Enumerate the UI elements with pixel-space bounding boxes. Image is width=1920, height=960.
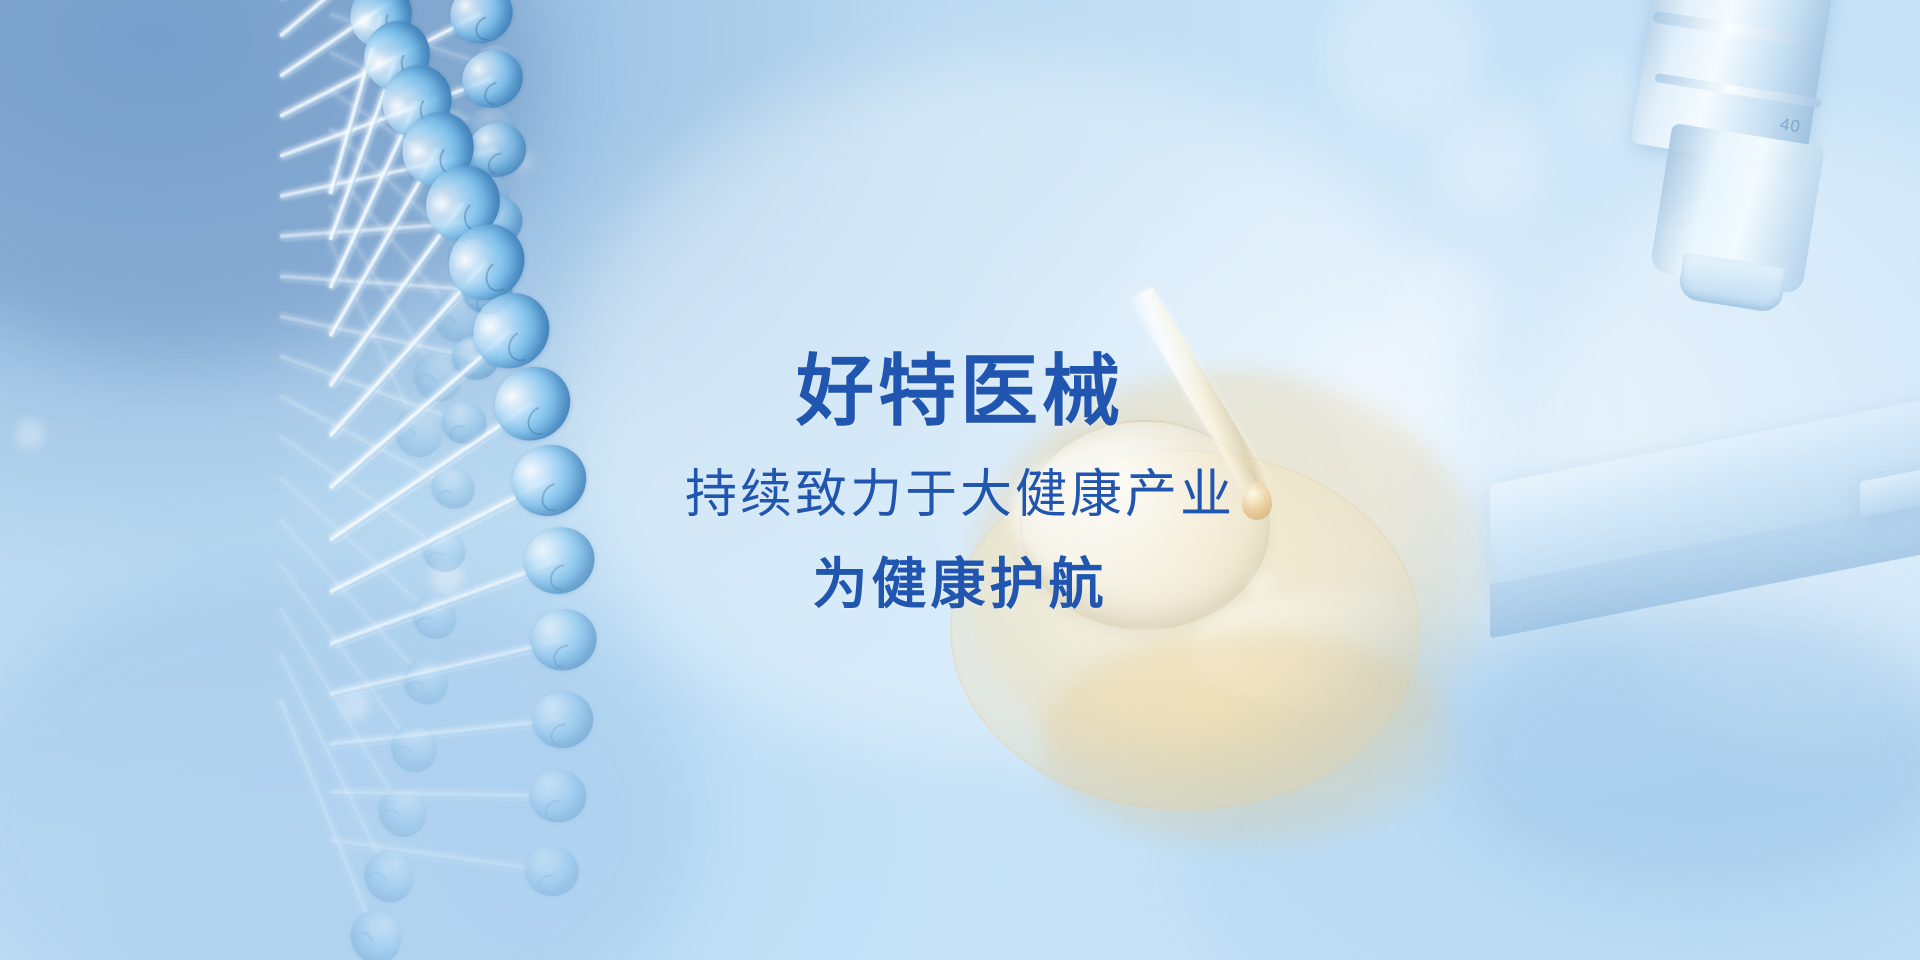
- dna-rung: [330, 716, 564, 748]
- dna-stem: [330, 789, 558, 800]
- hero-banner: 40 好特医械 持续致力于大健康产业 为健康护航: [0, 0, 1920, 960]
- dna-nucleotide-bead: [343, 903, 410, 960]
- page-title: 好特医械: [796, 352, 1124, 432]
- dna-nucleotide-bead: [454, 42, 531, 116]
- magnification-label: 40: [1779, 114, 1803, 137]
- dna-stem: [330, 837, 553, 875]
- dna-rung: [329, 836, 552, 875]
- dna-stem: [330, 716, 563, 747]
- hero-subtitle: 持续致力于大健康产业: [685, 468, 1235, 523]
- dna-rung: [330, 788, 558, 800]
- amber-liquid-pool: [1040, 630, 1460, 850]
- dna-nucleotide-bead: [382, 716, 446, 781]
- dna-nucleotide-bead: [529, 688, 596, 751]
- bokeh-light: [1330, 0, 1480, 130]
- dna-nucleotide-bead: [440, 0, 523, 54]
- hero-text-block: 好特医械 持续致力于大健康产业 为健康护航: [0, 352, 1920, 614]
- dna-nucleotide-bead: [529, 769, 587, 823]
- dna-nucleotide-bead: [522, 843, 582, 900]
- hero-tagline: 为健康护航: [812, 556, 1107, 614]
